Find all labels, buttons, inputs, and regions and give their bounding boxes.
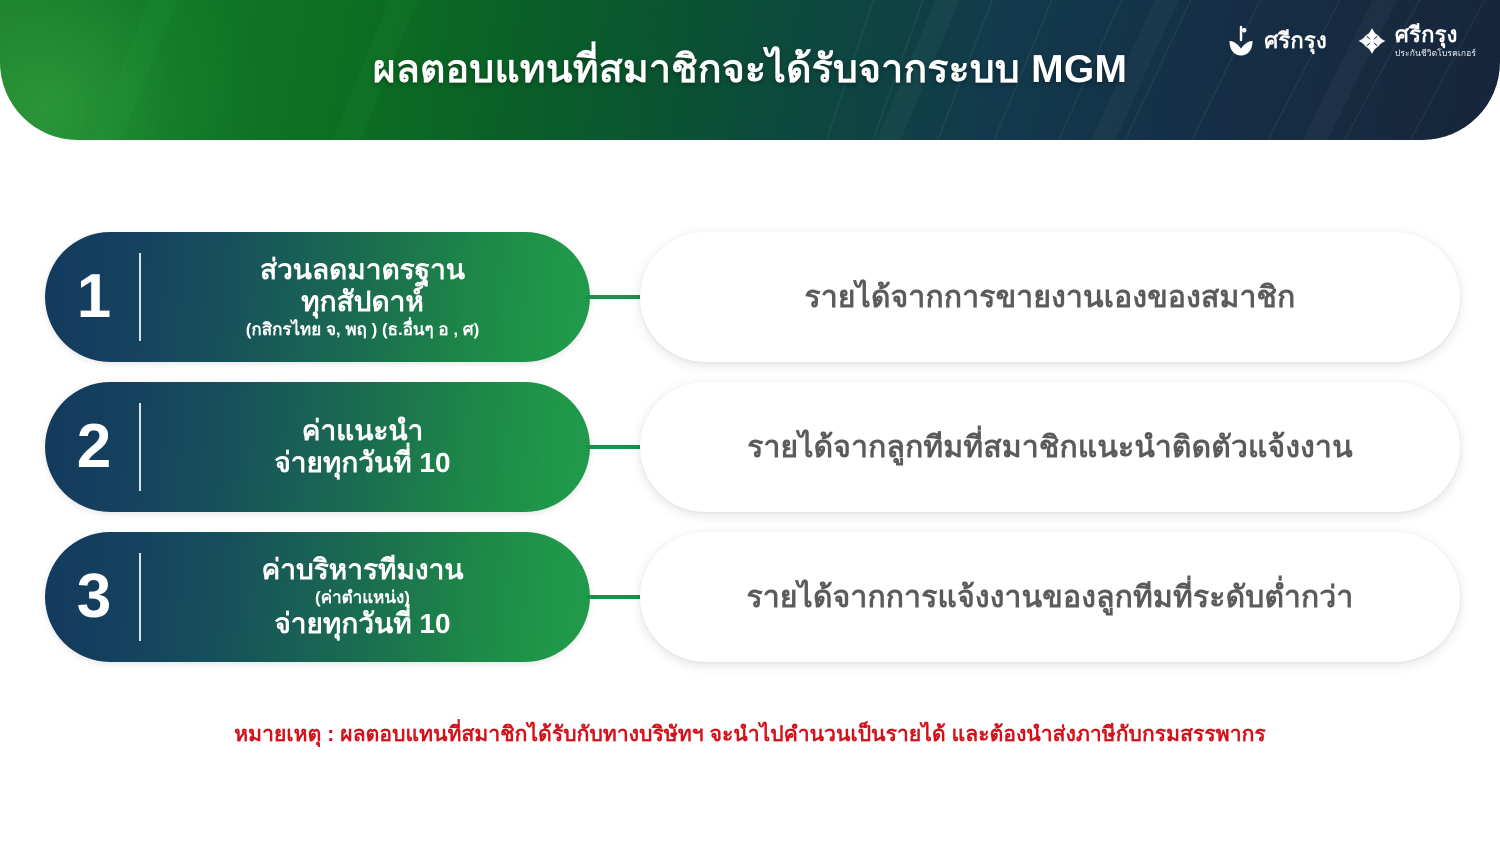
benefit-row-2: 2 ค่าแนะนำ จ่ายทุกวันที่ 10 รายได้จากลูก… <box>0 382 1500 512</box>
srikrung-seed-icon <box>1226 25 1256 57</box>
benefit-row-1: 1 ส่วนลดมาตรฐาน ทุกสัปดาห์ (กสิกรไทย จ, … <box>0 232 1500 362</box>
step-divider-3 <box>139 553 141 641</box>
benefit-rows: 1 ส่วนลดมาตรฐาน ทุกสัปดาห์ (กสิกรไทย จ, … <box>0 232 1500 682</box>
brand-logos: ศรีกรุง ศรีกรุง ประกันชีวิตโบรคเกอร์ <box>1226 24 1476 58</box>
srikrung-wordmark-broker: ศรีกรุง ประกันชีวิตโบรคเกอร์ <box>1395 24 1476 58</box>
step-text-3: ค่าบริหารทีมงาน (ค่าตำแหน่ง) จ่ายทุกวันท… <box>145 554 590 639</box>
step-divider-2 <box>139 403 141 491</box>
step-note-3: (ค่าตำแหน่ง) <box>151 588 574 607</box>
step-pill-2[interactable]: 2 ค่าแนะนำ จ่ายทุกวันที่ 10 <box>45 382 590 512</box>
page-header: ผลตอบแทนที่สมาชิกจะได้รับจากระบบ MGM ศรี… <box>0 0 1500 140</box>
benefit-row-3: 3 ค่าบริหารทีมงาน (ค่าตำแหน่ง) จ่ายทุกวั… <box>0 532 1500 662</box>
benefit-text-2: รายได้จากลูกทีมที่สมาชิกแนะนำติดตัวแจ้งง… <box>747 424 1353 471</box>
step-title-line-1b: ทุกสัปดาห์ <box>151 286 574 318</box>
step-note-1: (กสิกรไทย จ, พฤ ) (ธ.อื่นๆ อ , ศ) <box>151 320 574 339</box>
step-pill-3[interactable]: 3 ค่าบริหารทีมงาน (ค่าตำแหน่ง) จ่ายทุกวั… <box>45 532 590 662</box>
benefit-card-3[interactable]: รายได้จากการแจ้งงานของลูกทีมที่ระดับต่ำก… <box>640 532 1460 662</box>
step-number-1: 1 <box>51 266 137 328</box>
step-number-2: 2 <box>51 416 137 478</box>
step-title-line-2a: ค่าแนะนำ <box>151 415 574 447</box>
step-divider-1 <box>139 253 141 341</box>
step-title-line-3b: จ่ายทุกวันที่ 10 <box>151 608 574 640</box>
step-text-2: ค่าแนะนำ จ่ายทุกวันที่ 10 <box>145 415 590 479</box>
step-title-line-3a: ค่าบริหารทีมงาน <box>151 554 574 586</box>
srikrung-star-icon <box>1357 25 1387 57</box>
step-title-line-1a: ส่วนลดมาตรฐาน <box>151 254 574 286</box>
step-pill-1[interactable]: 1 ส่วนลดมาตรฐาน ทุกสัปดาห์ (กสิกรไทย จ, … <box>45 232 590 362</box>
footnote-text: หมายเหตุ : ผลตอบแทนที่สมาชิกได้รับกับทาง… <box>0 718 1500 751</box>
srikrung-logo-primary: ศรีกรุง <box>1226 25 1327 57</box>
benefit-card-1[interactable]: รายได้จากการขายงานเองของสมาชิก <box>640 232 1460 362</box>
step-title-line-2b: จ่ายทุกวันที่ 10 <box>151 447 574 479</box>
benefit-text-1: รายได้จากการขายงานเองของสมาชิก <box>805 274 1296 321</box>
benefit-card-2[interactable]: รายได้จากลูกทีมที่สมาชิกแนะนำติดตัวแจ้งง… <box>640 382 1460 512</box>
srikrung-wordmark-primary: ศรีกรุง <box>1264 30 1327 52</box>
step-text-1: ส่วนลดมาตรฐาน ทุกสัปดาห์ (กสิกรไทย จ, พฤ… <box>145 254 590 339</box>
benefit-text-3: รายได้จากการแจ้งงานของลูกทีมที่ระดับต่ำก… <box>747 574 1354 621</box>
step-number-3: 3 <box>51 566 137 628</box>
srikrung-logo-broker: ศรีกรุง ประกันชีวิตโบรคเกอร์ <box>1357 24 1476 58</box>
